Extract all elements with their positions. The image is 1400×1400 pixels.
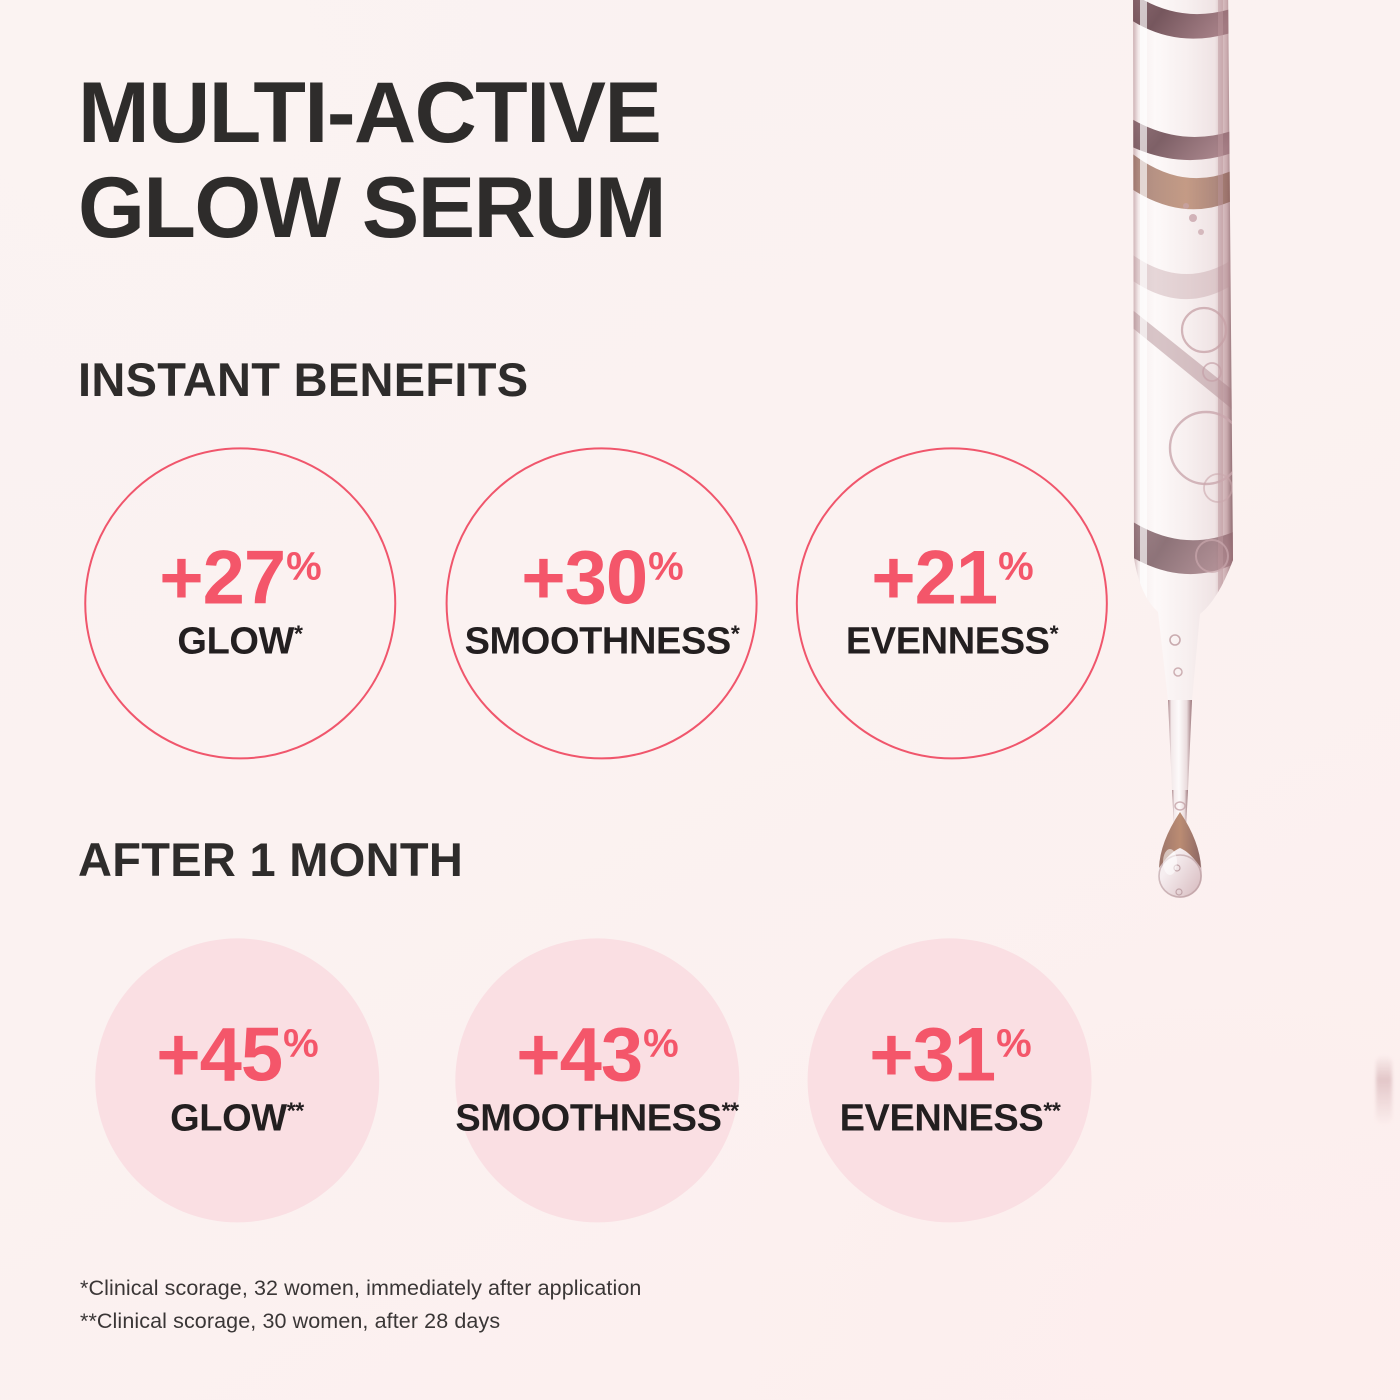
footnote-marker: * bbox=[1050, 623, 1059, 646]
footnote-marker: * bbox=[294, 623, 303, 646]
stat-metric: GLOW * bbox=[177, 621, 302, 664]
stat-number: +27 bbox=[159, 542, 285, 614]
edge-glint bbox=[1376, 1055, 1392, 1125]
stat-number: +45 bbox=[156, 1019, 282, 1091]
percent-sign: % bbox=[643, 1023, 678, 1063]
footnote-single-star: *Clinical scorage, 32 women, immediately… bbox=[80, 1272, 641, 1305]
percent-sign: % bbox=[286, 546, 321, 586]
stat-value: +43 % bbox=[516, 1019, 678, 1091]
stat-value: +21 % bbox=[871, 542, 1033, 614]
stat-circle-glow-month: +45 % GLOW ** bbox=[156, 1019, 318, 1140]
stat-metric-label: EVENNESS bbox=[846, 621, 1050, 664]
stat-metric-label: GLOW bbox=[177, 621, 294, 664]
stat-metric-label: SMOOTHNESS bbox=[465, 621, 731, 664]
stat-metric: SMOOTHNESS ** bbox=[455, 1098, 738, 1141]
stat-metric-label: GLOW bbox=[170, 1098, 287, 1141]
percent-sign: % bbox=[998, 546, 1033, 586]
stat-circle-smoothness-instant: +30 % SMOOTHNESS * bbox=[465, 542, 740, 663]
stat-value: +45 % bbox=[156, 1019, 318, 1091]
footnote-double-star: **Clinical scorage, 30 women, after 28 d… bbox=[80, 1305, 641, 1338]
stat-circle-smoothness-month: +43 % SMOOTHNESS ** bbox=[455, 1019, 738, 1140]
title-line-2: GLOW SERUM bbox=[78, 165, 858, 253]
stat-value: +27 % bbox=[159, 542, 321, 614]
stat-number: +31 bbox=[869, 1019, 995, 1091]
footnote-marker: * bbox=[731, 623, 740, 646]
stat-row-instant-benefits: +27 % GLOW * +30 % SMOOTHNESS * bbox=[0, 443, 1140, 763]
section-heading-after-1-month: AFTER 1 MONTH bbox=[78, 832, 463, 887]
percent-sign: % bbox=[648, 546, 683, 586]
stat-metric: SMOOTHNESS * bbox=[465, 621, 740, 664]
infographic-canvas: MULTI-ACTIVE GLOW SERUM INSTANT BENEFITS… bbox=[0, 0, 1400, 1400]
stat-metric-label: SMOOTHNESS bbox=[455, 1098, 721, 1141]
stat-number: +30 bbox=[521, 542, 647, 614]
footnotes: *Clinical scorage, 32 women, immediately… bbox=[80, 1272, 641, 1339]
stat-metric: EVENNESS * bbox=[846, 621, 1058, 664]
stat-number: +43 bbox=[516, 1019, 642, 1091]
percent-sign: % bbox=[996, 1023, 1031, 1063]
footnote-marker: ** bbox=[287, 1100, 304, 1123]
stat-metric: GLOW ** bbox=[170, 1098, 304, 1141]
stat-value: +30 % bbox=[521, 542, 683, 614]
serum-dropper-pipette bbox=[1100, 0, 1400, 960]
stat-metric-label: EVENNESS bbox=[840, 1098, 1044, 1141]
title-line-1: MULTI-ACTIVE bbox=[78, 70, 858, 158]
footnote-marker: ** bbox=[722, 1100, 739, 1123]
percent-sign: % bbox=[283, 1023, 318, 1063]
stat-metric: EVENNESS ** bbox=[840, 1098, 1061, 1141]
section-heading-instant-benefits: INSTANT BENEFITS bbox=[78, 352, 528, 407]
stat-row-after-1-month: +45 % GLOW ** +43 % SMOOTHNESS ** bbox=[0, 935, 1140, 1255]
stat-number: +21 bbox=[871, 542, 997, 614]
stat-circle-evenness-instant: +21 % EVENNESS * bbox=[846, 542, 1058, 663]
stat-circle-glow-instant: +27 % GLOW * bbox=[159, 542, 321, 663]
page-title: MULTI-ACTIVE GLOW SERUM bbox=[78, 70, 858, 252]
footnote-marker: ** bbox=[1043, 1100, 1060, 1123]
stat-value: +31 % bbox=[869, 1019, 1031, 1091]
stat-circle-evenness-month: +31 % EVENNESS ** bbox=[840, 1019, 1061, 1140]
